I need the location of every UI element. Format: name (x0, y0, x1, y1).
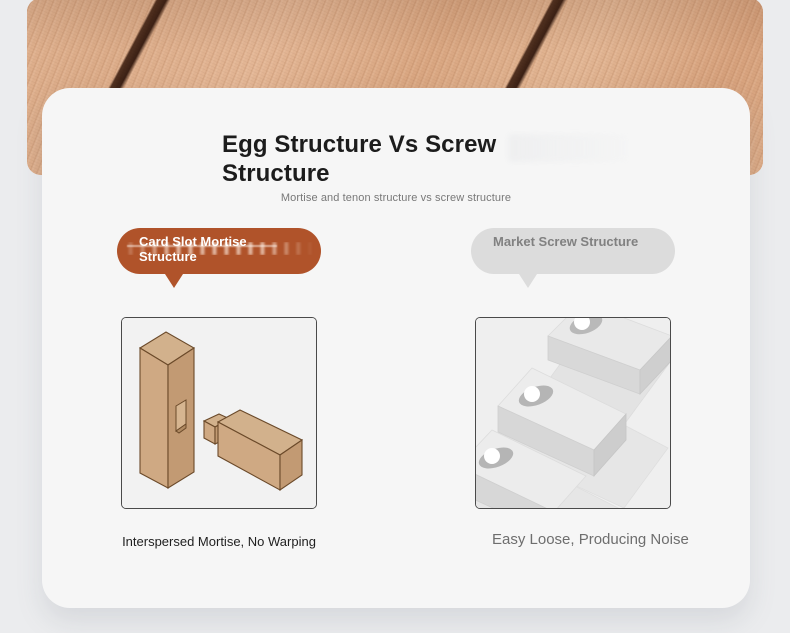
mortise-tenon-joint-diagram (122, 318, 316, 508)
comparison-card: Egg Structure Vs Screw Structure Mortise… (42, 88, 750, 608)
illustration-frame-mortise (121, 317, 317, 509)
column-screw: Market Screw Structure (396, 228, 750, 550)
screwed-slats-diagram (476, 318, 670, 508)
caption-mortise: Interspersed Mortise, No Warping (42, 532, 396, 551)
pill-screw-arrow-icon (519, 274, 537, 288)
pill-mortise[interactable]: Card Slot Mortise Structure (117, 228, 321, 274)
illustration-frame-screw (475, 317, 671, 509)
column-mortise: Card Slot Mortise Structure (42, 228, 396, 551)
callout-mortise: Card Slot Mortise Structure (117, 228, 321, 274)
callout-screw: Market Screw Structure (471, 228, 675, 274)
page-title: Egg Structure Vs Screw Structure (222, 130, 552, 188)
pill-mortise-arrow-icon (165, 274, 183, 288)
page-root: Egg Structure Vs Screw Structure Mortise… (0, 0, 790, 633)
pill-screw-label: Market Screw Structure (493, 234, 653, 249)
pill-mortise-label: Card Slot Mortise Structure (139, 234, 299, 264)
page-subtitle: Mortise and tenon structure vs screw str… (42, 192, 750, 204)
caption-screw: Easy Loose, Producing Noise (396, 529, 750, 550)
pill-screw[interactable]: Market Screw Structure (471, 228, 675, 274)
